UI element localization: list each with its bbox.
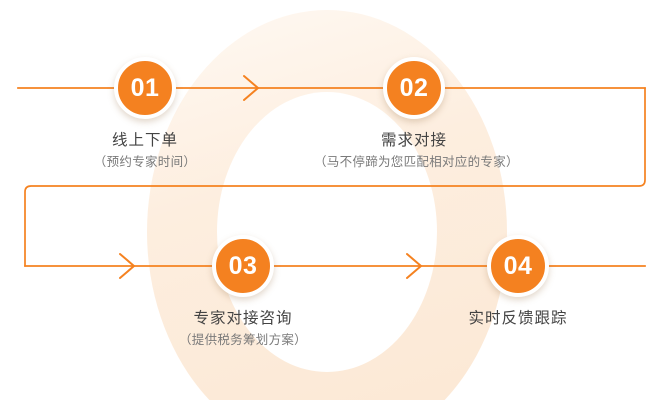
step-subtitle-02: （马不停蹄为您匹配相对应的专家）: [314, 155, 514, 170]
step-subtitle-01: （预约专家时间）: [45, 155, 245, 170]
step-title-01: 线上下单: [45, 132, 245, 151]
step-title-04: 实时反馈跟踪: [418, 310, 618, 329]
step-node-04[interactable]: 04 实时反馈跟踪: [418, 235, 618, 333]
step-circle-01[interactable]: 01: [114, 57, 176, 119]
step-number-04: 04: [504, 254, 533, 279]
step-circle-02[interactable]: 02: [383, 57, 445, 119]
flow-diagram-canvas: 01 线上下单 （预约专家时间） 02 需求对接 （马不停蹄为您匹配相对应的专家…: [0, 0, 665, 400]
step-node-02[interactable]: 02 需求对接 （马不停蹄为您匹配相对应的专家）: [314, 57, 514, 170]
step-number-03: 03: [229, 254, 258, 279]
step-number-01: 01: [131, 76, 160, 101]
step-circle-03[interactable]: 03: [212, 235, 274, 297]
step-node-03[interactable]: 03 专家对接咨询 （提供税务筹划方案）: [143, 235, 343, 348]
step-title-02: 需求对接: [314, 132, 514, 151]
step-circle-04[interactable]: 04: [487, 235, 549, 297]
step-title-03: 专家对接咨询: [143, 310, 343, 329]
step-number-02: 02: [400, 76, 429, 101]
step-subtitle-03: （提供税务筹划方案）: [143, 333, 343, 348]
step-node-01[interactable]: 01 线上下单 （预约专家时间）: [45, 57, 245, 170]
